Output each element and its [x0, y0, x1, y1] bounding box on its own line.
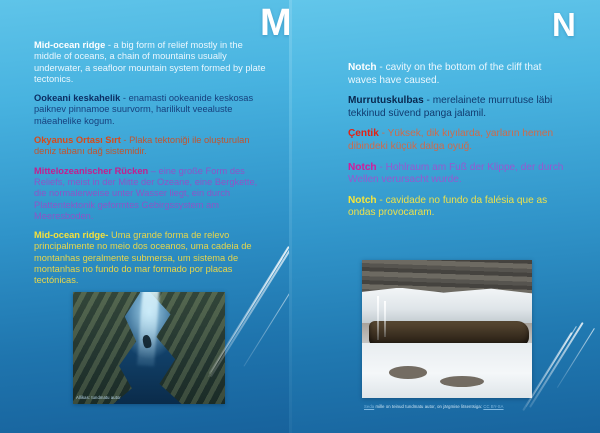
entry-mid-ocean-ridge-portuguese: Mid-ocean ridge- Uma grande forma de rel…	[34, 230, 270, 286]
entry-headword: Çentik	[348, 128, 379, 139]
left-entry-list: Mid-ocean ridge - a big form of relief m…	[34, 40, 270, 287]
left-figure-caption: Allikas: tundmatu autor	[76, 395, 121, 400]
right-figure: Seda mille on teinud tundmatu autor, on …	[362, 260, 532, 398]
entry-notch-estonian: Murrutuskulbas - merelainete murrutuse l…	[348, 95, 566, 120]
entry-notch-portuguese: Notch - cavidade no fundo da falésia que…	[348, 195, 566, 220]
entry-body: - Yüksek, dik kıyılarda, yarların hemen …	[348, 128, 553, 152]
diagonal-streak-decor	[557, 328, 595, 388]
entry-notch-german: Notch - Hohlraum am Fuß der Klippe, der …	[348, 162, 566, 187]
entry-headword: Notch	[348, 162, 377, 173]
entry-headword: Mid-ocean ridge	[34, 40, 105, 50]
rift-wall-left-decor	[73, 292, 140, 404]
left-panel-letter: M	[260, 4, 289, 42]
boulder-decor	[389, 366, 426, 378]
right-figure-caption: Seda mille on teinud tundmatu autor, on …	[364, 404, 530, 409]
rift-wall-right-decor	[150, 292, 225, 404]
diagonal-streak-decor	[526, 326, 577, 407]
entry-headword: Okyanus Ortası Sırt	[34, 135, 121, 145]
snowy-cliff-notch-photo	[362, 260, 532, 398]
right-panel-letter: N	[552, 8, 575, 41]
entry-headword: Mid-ocean ridge-	[34, 230, 108, 240]
underwater-rift-photo: Allikas: tundmatu autor	[73, 292, 225, 404]
caption-link-source[interactable]: Seda	[364, 404, 374, 409]
caption-text: mille on teinud tundmatu autor, on järgm…	[374, 404, 483, 409]
entry-body: - cavidade no fundo da falésia que as on…	[348, 195, 547, 219]
entry-mid-ocean-ridge-german: Mittelozeanischer Rücken – eine große Fo…	[34, 166, 270, 222]
entry-body: - Hohlraum am Fuß der Klippe, der durch …	[348, 162, 563, 186]
entry-headword: Murrutuskulbas	[348, 95, 424, 106]
slide-canvas: M Mid-ocean ridge - a big form of relief…	[0, 0, 600, 433]
entry-mid-ocean-ridge-turkish: Okyanus Ortası Sırt - Plaka tektoniği il…	[34, 135, 270, 158]
entry-mid-ocean-ridge-english: Mid-ocean ridge - a big form of relief m…	[34, 40, 270, 85]
diagonal-streak-decor	[529, 322, 583, 408]
entry-headword: Notch	[348, 62, 377, 73]
snow-floor-decor	[362, 343, 532, 398]
light-beam-decor	[137, 292, 159, 366]
left-panel: M Mid-ocean ridge - a big form of relief…	[0, 0, 289, 433]
entry-headword: Notch	[348, 195, 377, 206]
entry-headword: Mittelozeanischer Rücken	[34, 166, 148, 176]
caption-link-license[interactable]: CC BY-SA	[483, 404, 503, 409]
entry-body: - cavity on the bottom of the cliff that…	[348, 62, 541, 86]
snow-band-decor	[362, 288, 532, 324]
entry-mid-ocean-ridge-estonian: Ookeani keskahelik - enamasti ookeanide …	[34, 93, 270, 127]
boulder-decor	[440, 376, 484, 387]
icicle-decor	[377, 296, 379, 340]
right-entry-list: Notch - cavity on the bottom of the clif…	[348, 62, 566, 220]
icicle-decor	[384, 301, 386, 337]
left-figure: Allikas: tundmatu autor	[73, 292, 225, 404]
entry-headword: Ookeani keskahelik	[34, 93, 120, 103]
diagonal-streaks-right-decor	[528, 322, 600, 433]
right-panel: N Notch - cavity on the bottom of the cl…	[289, 0, 600, 433]
entry-notch-turkish: Çentik - Yüksek, dik kıyılarda, yarların…	[348, 128, 566, 153]
entry-notch-english: Notch - cavity on the bottom of the clif…	[348, 62, 566, 87]
caprock-layer-decor	[362, 260, 532, 293]
